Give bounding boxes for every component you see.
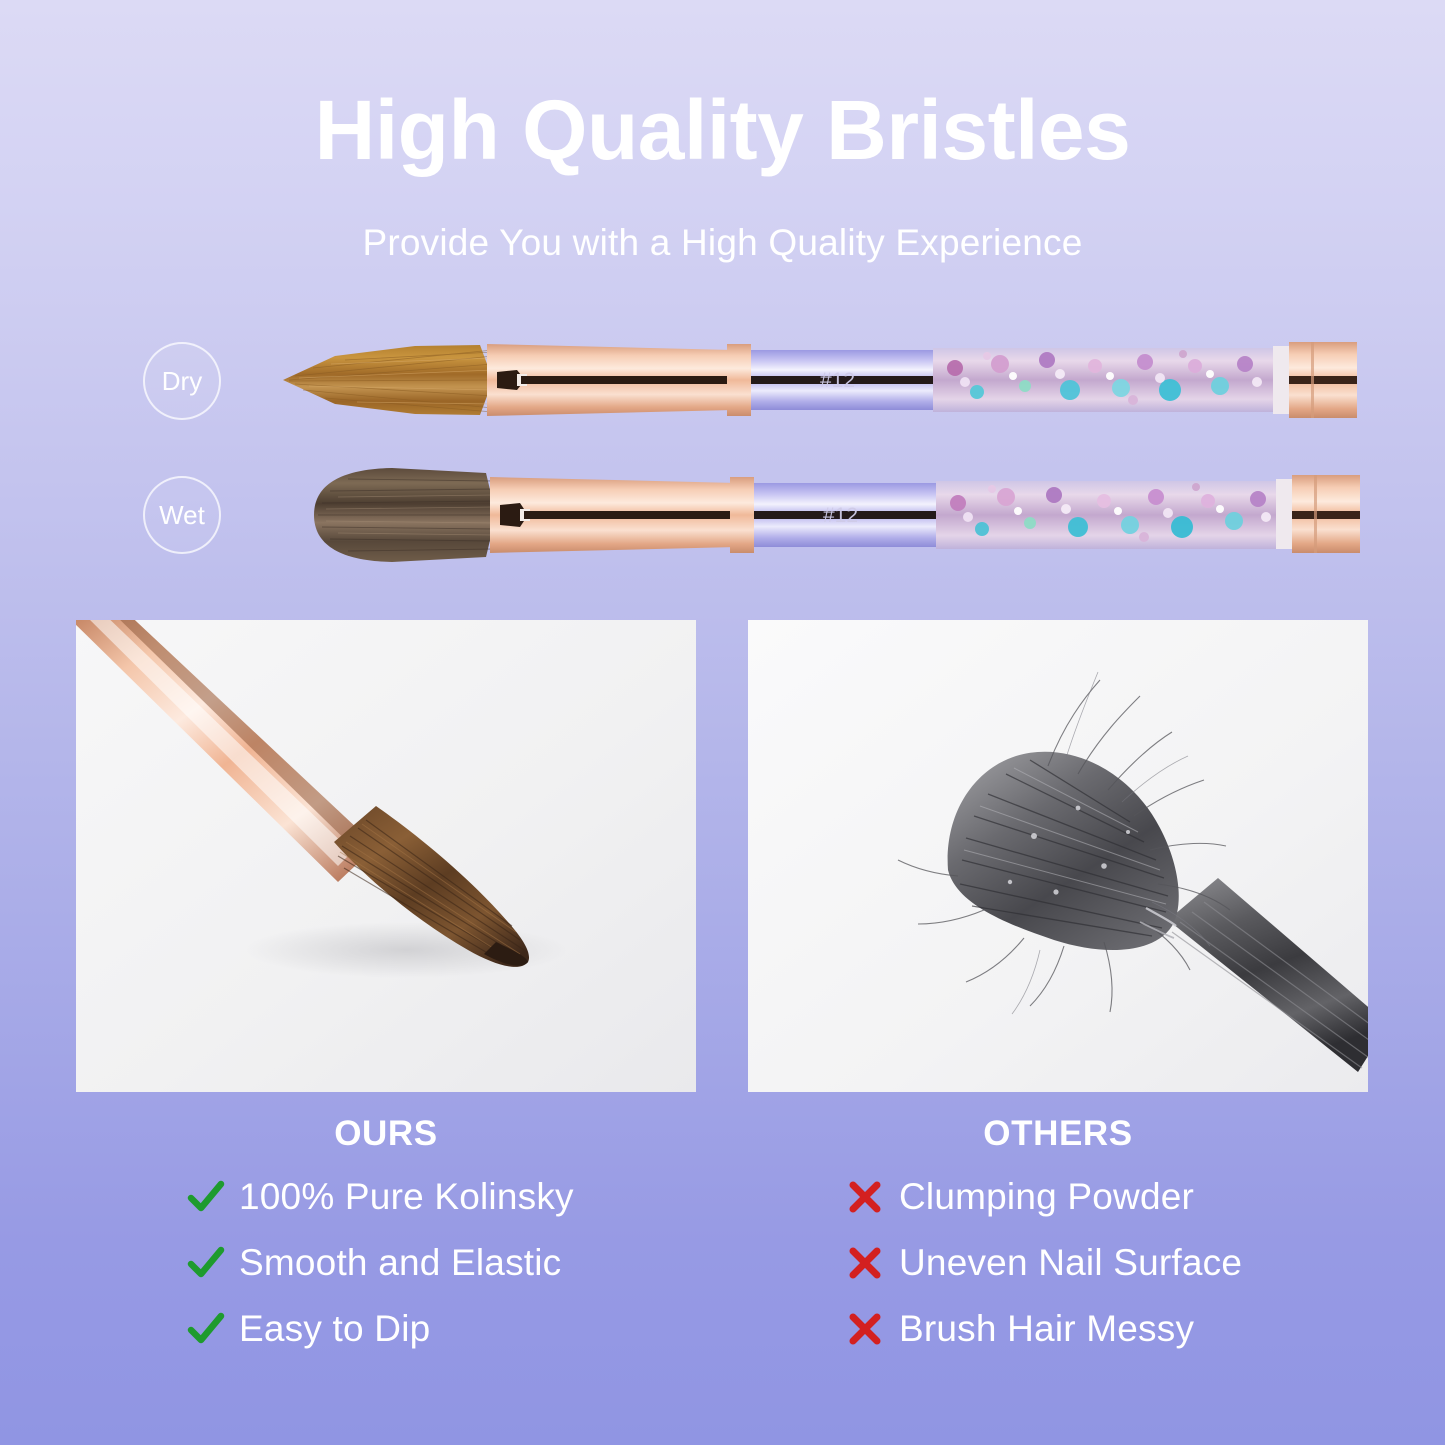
column-heading-ours: OURS	[76, 1114, 696, 1154]
cross-icon	[845, 1309, 899, 1349]
feature-text: Uneven Nail Surface	[899, 1242, 1242, 1284]
infographic-page: High Quality Bristles Provide You with a…	[0, 0, 1445, 1445]
list-item: Smooth and Elastic	[185, 1232, 745, 1294]
feature-list-others: Clumping Powder Uneven Nail Surface Brus…	[845, 1166, 1405, 1364]
ours-brush-photo	[76, 620, 696, 1092]
check-icon	[185, 1242, 239, 1284]
list-item: Clumping Powder	[845, 1166, 1405, 1228]
cross-icon	[845, 1177, 899, 1217]
brush-wet-illustration: #12	[300, 455, 1375, 575]
check-icon	[185, 1308, 239, 1350]
cross-icon	[845, 1243, 899, 1283]
list-item: 100% Pure Kolinsky	[185, 1166, 745, 1228]
svg-text:#12: #12	[823, 504, 858, 527]
state-badge-wet: Wet	[143, 476, 221, 554]
state-badge-dry-label: Dry	[162, 366, 202, 397]
feature-text: Easy to Dip	[239, 1308, 430, 1350]
column-heading-others: OTHERS	[748, 1114, 1368, 1154]
list-item: Easy to Dip	[185, 1298, 745, 1360]
feature-text: 100% Pure Kolinsky	[239, 1176, 574, 1218]
feature-text: Smooth and Elastic	[239, 1242, 561, 1284]
state-badge-wet-label: Wet	[159, 500, 205, 531]
state-badge-dry: Dry	[143, 342, 221, 420]
check-icon	[185, 1176, 239, 1218]
list-item: Uneven Nail Surface	[845, 1232, 1405, 1294]
feature-list-ours: 100% Pure Kolinsky Smooth and Elastic Ea…	[185, 1166, 745, 1364]
page-subtitle: Provide You with a High Quality Experien…	[0, 222, 1445, 264]
svg-text:#12: #12	[820, 369, 855, 392]
feature-text: Brush Hair Messy	[899, 1308, 1194, 1350]
feature-text: Clumping Powder	[899, 1176, 1194, 1218]
others-brush-photo	[748, 620, 1368, 1092]
page-title: High Quality Bristles	[0, 86, 1445, 174]
brush-dry-illustration: #12	[265, 320, 1375, 440]
list-item: Brush Hair Messy	[845, 1298, 1405, 1360]
